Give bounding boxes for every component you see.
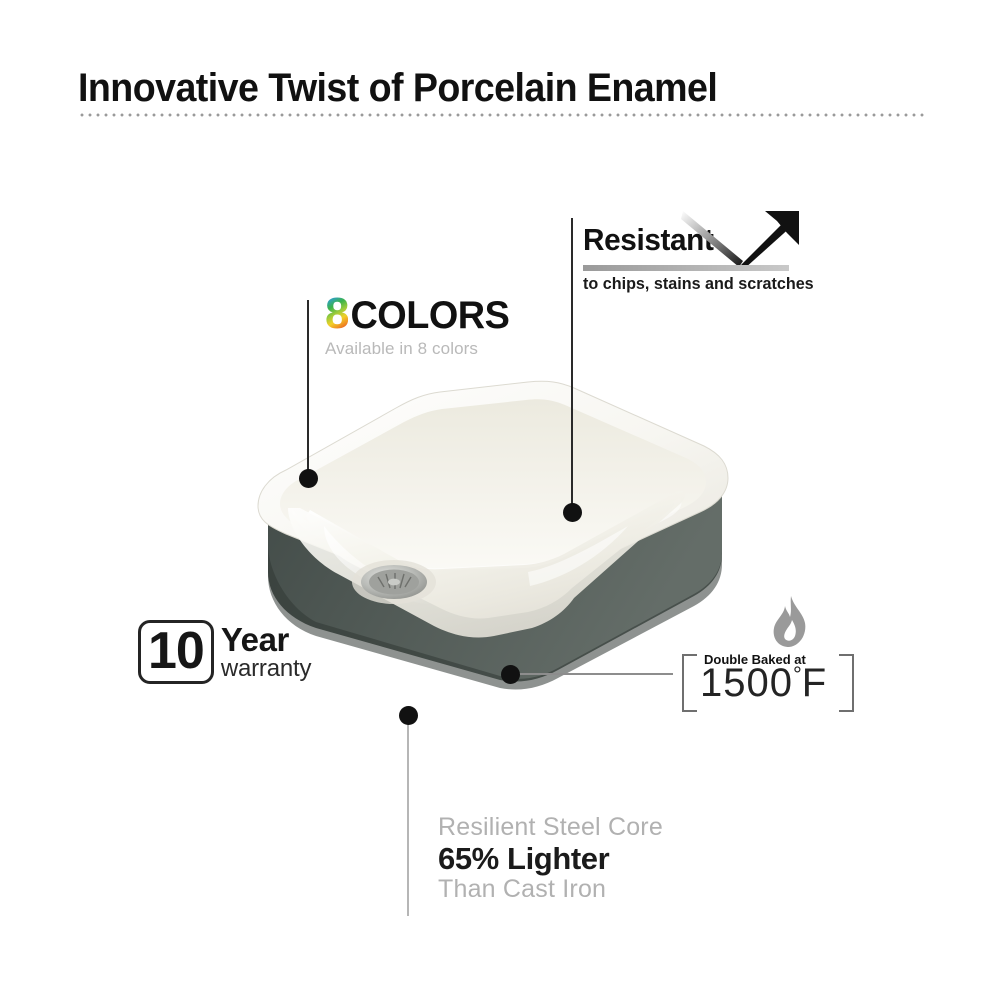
colors-number: 8 xyxy=(325,292,348,336)
callout-temperature: Double Baked at 1500°F xyxy=(682,596,862,712)
warranty-year-label: Year xyxy=(221,623,311,656)
temperature-value: 1500 xyxy=(700,661,793,705)
callout-resistant: Resistant to chips, stains and scratches xyxy=(583,222,795,262)
resistant-subtitle: to chips, stains and scratches xyxy=(583,274,814,294)
leader-line-steel-core xyxy=(407,720,409,916)
warranty-number-box: 10 xyxy=(138,620,214,684)
callout-colors: 8 COLORS Available in 8 colors xyxy=(325,292,512,359)
bracket-left-icon xyxy=(682,654,697,712)
bracket-right-icon xyxy=(839,654,854,712)
marker-dot-temperature xyxy=(501,665,520,684)
resistant-heading-row: Resistant xyxy=(583,222,795,262)
growth-arrow-icon xyxy=(681,209,801,271)
title-divider xyxy=(78,113,924,117)
resistant-divider-bar xyxy=(583,265,789,271)
warranty-number: 10 xyxy=(148,622,204,680)
leader-line-resistant xyxy=(571,218,573,514)
callout-warranty: 10 Year warranty xyxy=(138,620,311,684)
steel-core-line-1: Resilient Steel Core xyxy=(438,814,663,841)
marker-dot-steel-core xyxy=(399,706,418,725)
leader-line-colors xyxy=(307,300,309,480)
leader-line-temperature xyxy=(515,673,673,675)
temperature-bracket-frame: Double Baked at 1500°F xyxy=(682,654,854,708)
colors-word: COLORS xyxy=(351,296,510,335)
callout-steel-core: Resilient Steel Core 65% Lighter Than Ca… xyxy=(438,814,663,903)
warranty-word-label: warranty xyxy=(221,657,311,681)
drain-assembly xyxy=(352,560,436,604)
marker-dot-colors xyxy=(299,469,318,488)
marker-dot-resistant xyxy=(563,503,582,522)
steel-core-line-2: 65% Lighter xyxy=(438,842,663,875)
flame-icon xyxy=(770,596,810,648)
colors-subtitle: Available in 8 colors xyxy=(325,339,512,359)
temperature-value-group: 1500°F xyxy=(700,662,827,704)
steel-core-line-3: Than Cast Iron xyxy=(438,876,663,903)
colors-heading: 8 COLORS xyxy=(325,292,512,336)
page-title: Innovative Twist of Porcelain Enamel xyxy=(78,66,717,111)
warranty-text-group: Year warranty xyxy=(221,623,311,681)
infographic-page: Innovative Twist of Porcelain Enamel xyxy=(0,0,1000,1000)
degree-symbol: ° xyxy=(793,662,802,687)
temperature-unit: F xyxy=(802,661,827,705)
